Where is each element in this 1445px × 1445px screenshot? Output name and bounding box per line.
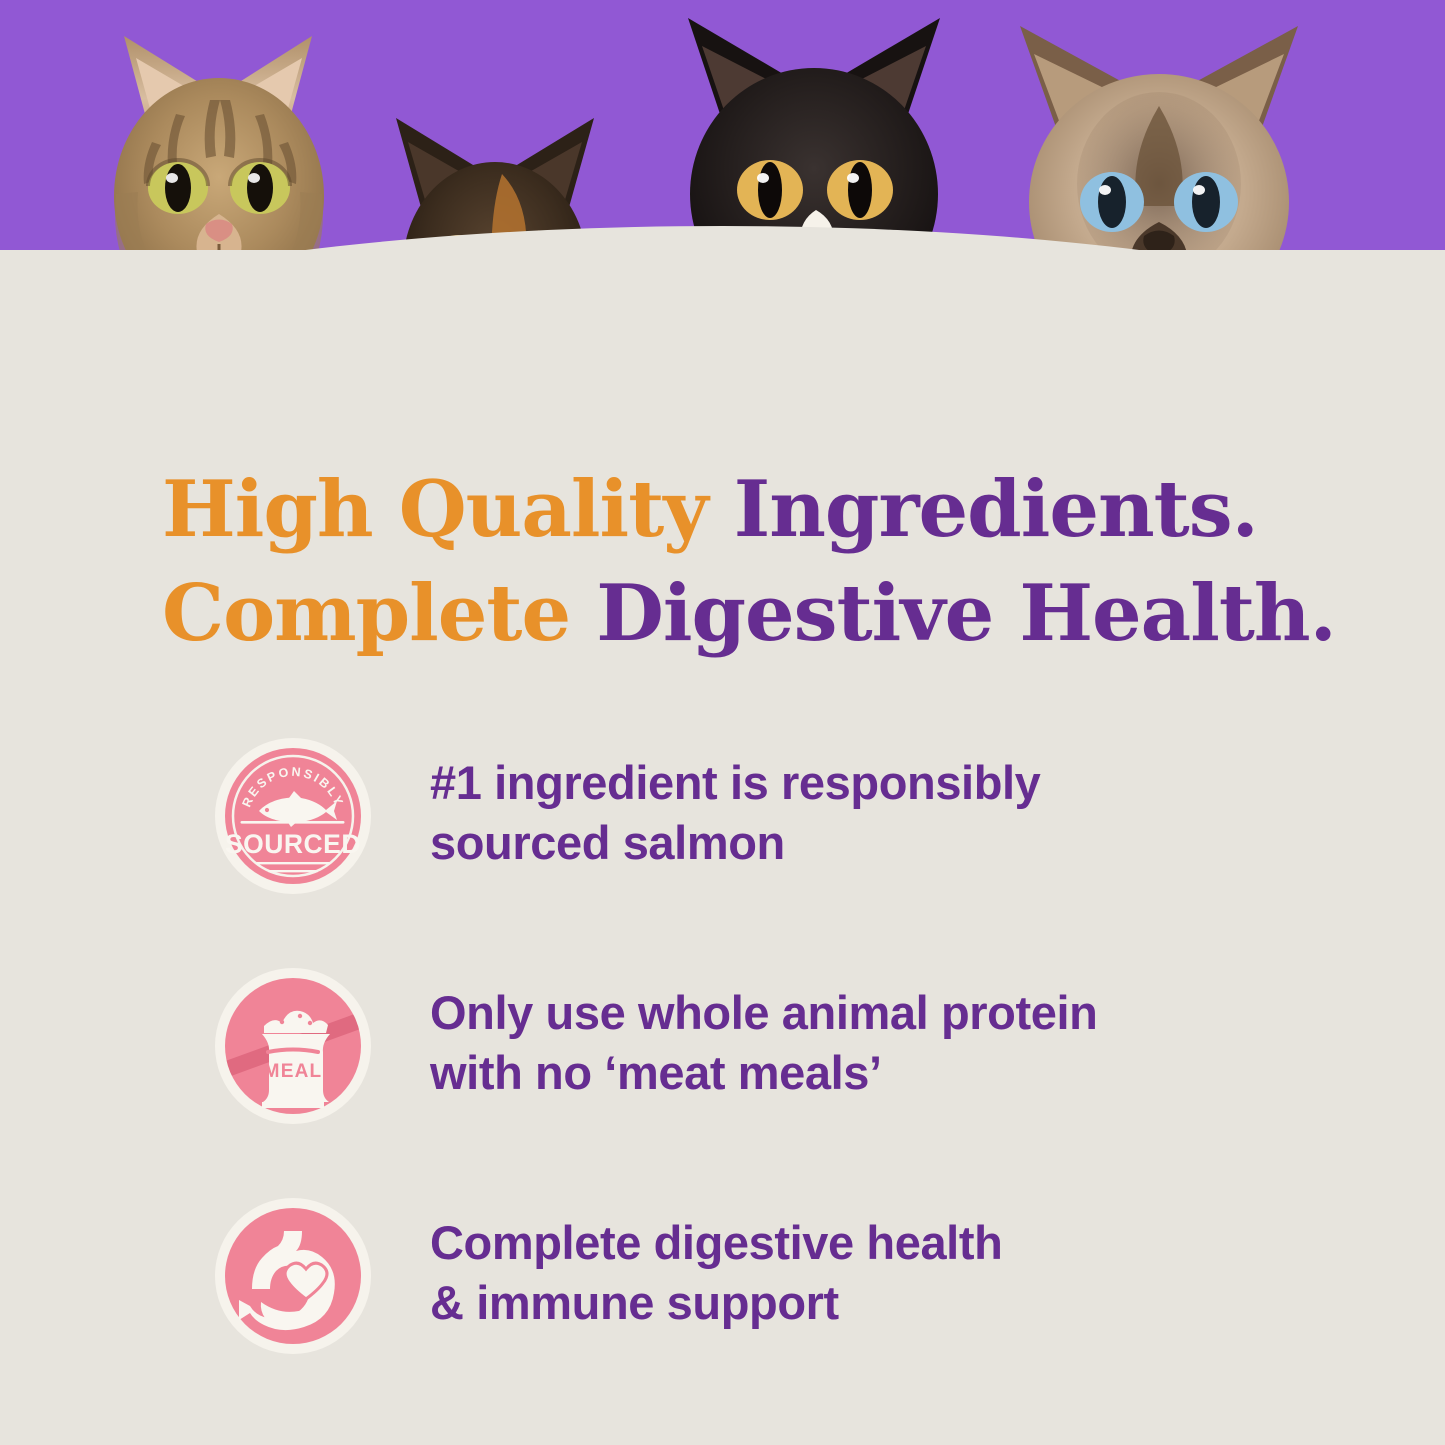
feature-description: Complete digestive health & immune suppo… <box>430 1195 1002 1333</box>
feature-row: Complete digestive health & immune suppo… <box>0 1195 1445 1357</box>
badge-main-text: MEAL <box>264 1061 323 1082</box>
responsibly-sourced-fish-badge: RESPONSIBLY SOURCED <box>212 735 374 897</box>
feature-line-2: sourced salmon <box>430 813 1040 873</box>
feature-line-1: Complete digestive health <box>430 1213 1002 1273</box>
feature-description: #1 ingredient is responsibly sourced sal… <box>430 735 1040 873</box>
headline-line-1-purple: Ingredients. <box>734 464 1258 555</box>
headline-line-2-orange: Complete <box>162 568 596 659</box>
feature-line-2: & immune support <box>430 1273 1002 1333</box>
cat-photo-banner <box>0 0 1445 400</box>
headline-line-2-purple: Digestive Health. <box>596 568 1336 659</box>
digestive-health-badge <box>212 1195 374 1357</box>
feature-line-2: with no ‘meat meals’ <box>430 1043 1097 1103</box>
badge-main-text: SOURCED <box>225 829 361 859</box>
headline-line-1-orange: High Quality <box>162 464 734 555</box>
feature-line-1: Only use whole animal protein <box>430 983 1097 1043</box>
page-title: High Quality Ingredients. Complete Diges… <box>162 458 1342 666</box>
content-panel: High Quality Ingredients. Complete Diges… <box>0 400 1445 1445</box>
feature-row: MEAL Only use whole animal protein with … <box>0 965 1445 1127</box>
headline-line-2: Complete Digestive Health. <box>162 562 1342 666</box>
feature-row: RESPONSIBLY SOURCED #1 ingredient is res… <box>0 735 1445 897</box>
feature-description: Only use whole animal protein with no ‘m… <box>430 965 1097 1103</box>
no-meat-meal-badge: MEAL <box>212 965 374 1127</box>
headline-line-1: High Quality Ingredients. <box>162 458 1342 562</box>
feature-line-1: #1 ingredient is responsibly <box>430 753 1040 813</box>
